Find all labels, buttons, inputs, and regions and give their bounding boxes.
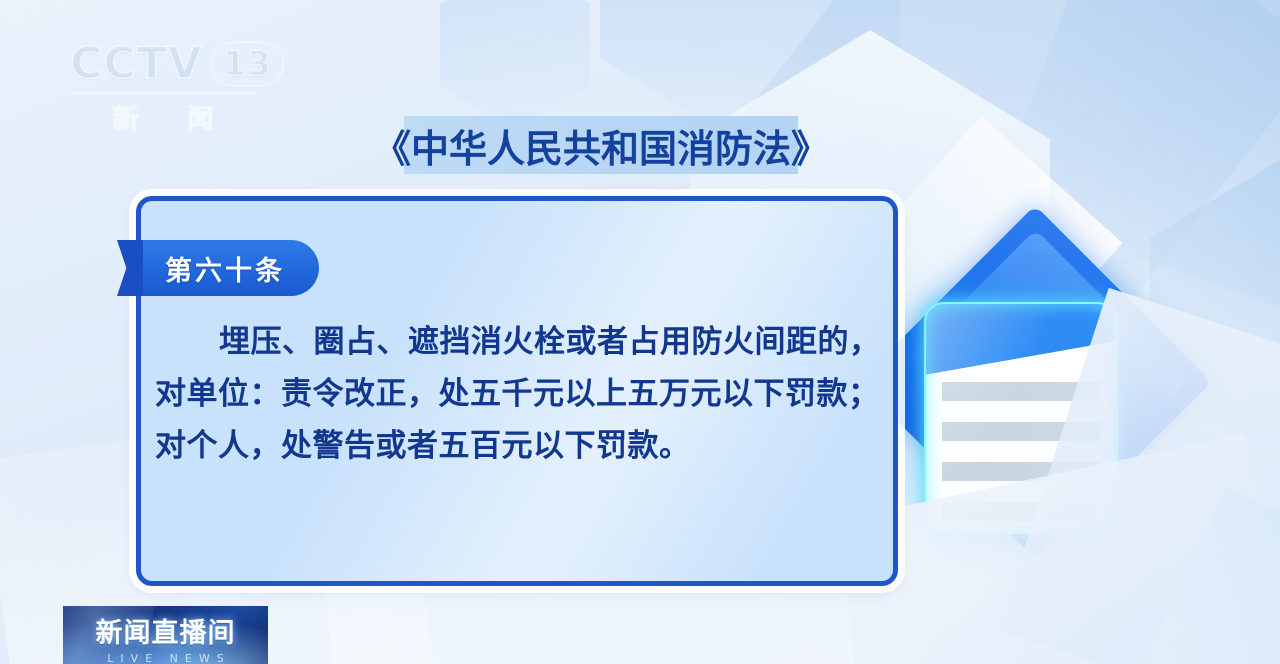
- article-number-label: 第六十条: [165, 249, 285, 288]
- program-lower-third: 新闻直播间 LIVE NEWS: [63, 606, 268, 664]
- article-number-badge: 第六十条: [117, 240, 319, 296]
- ribbon-tail: [117, 240, 143, 296]
- article-body-line: 对个人，处警告或者五百元以下罚款。: [155, 420, 873, 472]
- article-body-line: 对单位：责令改正，处五千元以上五万元以下罚款；: [155, 368, 873, 420]
- ribbon-body: 第六十条: [143, 240, 319, 296]
- program-name-cn: 新闻直播间: [63, 611, 268, 650]
- law-title-band: 《中华人民共和国消防法》: [404, 116, 798, 174]
- article-body: 埋压、圈占、遮挡消火栓或者占用防火间距的， 对单位：责令改正，处五千元以上五万元…: [155, 316, 873, 472]
- program-name-en: LIVE NEWS: [63, 652, 268, 664]
- broadcast-screen: CCTV 13 新 闻 《中华人民共和国消防法》 第六十条 埋压、圈占、遮挡消火…: [0, 0, 1280, 664]
- article-body-line: 埋压、圈占、遮挡消火栓或者占用防火间距的，: [155, 316, 873, 368]
- page-title: 《中华人民共和国消防法》: [373, 118, 829, 173]
